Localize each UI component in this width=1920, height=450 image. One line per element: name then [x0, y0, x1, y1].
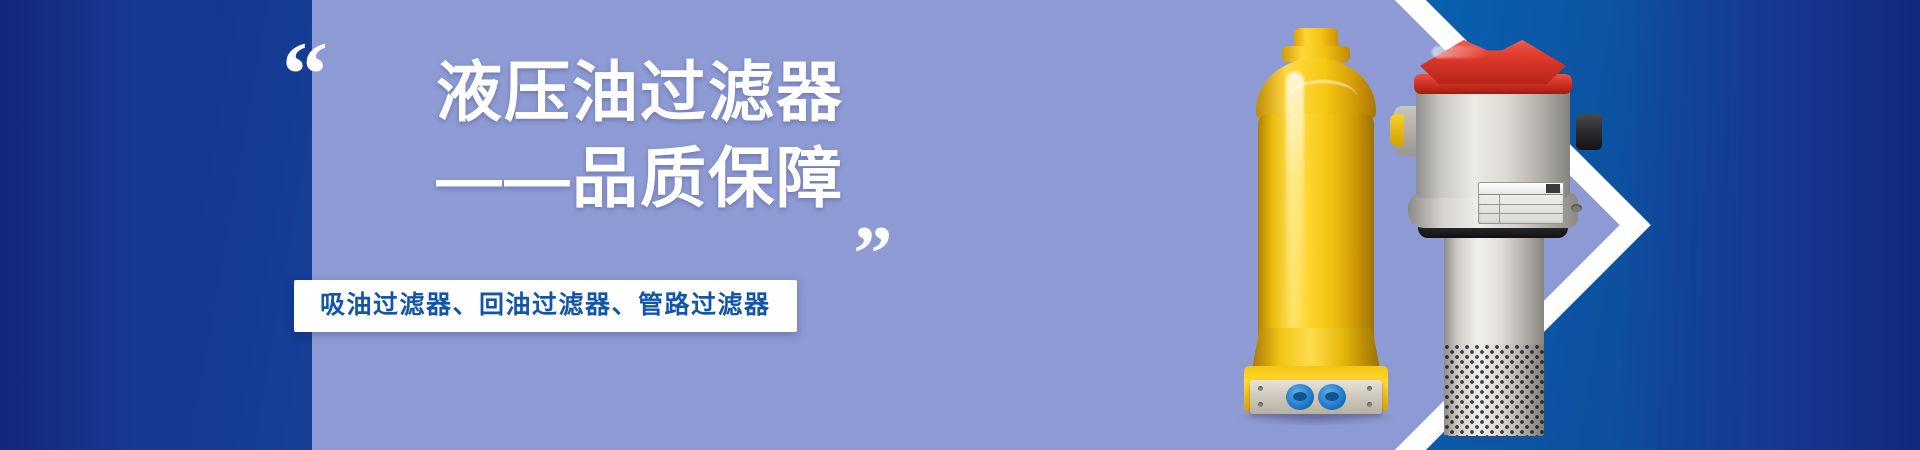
banner-copy-block: “ 液压油过滤器 ——品质保障 „ 吸油过滤器、回油过滤器、管路过滤器	[268, 22, 888, 352]
grey-filter-perforated-mesh	[1444, 344, 1544, 436]
yellow-filter-base-flare	[1252, 328, 1380, 370]
nameplate-row-divider	[1479, 204, 1563, 205]
banner-right-vignette	[1620, 0, 1920, 450]
product-banner: “ 液压油过滤器 ——品质保障 „ 吸油过滤器、回油过滤器、管路过滤器	[0, 0, 1920, 450]
banner-subtitle-text: 吸油过滤器、回油过滤器、管路过滤器	[320, 293, 771, 318]
nameplate-dark-field	[1546, 184, 1560, 193]
nameplate-row-divider	[1479, 213, 1563, 214]
yellow-filter-bolt	[1258, 402, 1263, 407]
grey-filter-side-knob	[1576, 114, 1602, 150]
banner-headline: 液压油过滤器 ——品质保障	[268, 50, 888, 222]
yellow-filter-bolt	[1367, 402, 1372, 407]
banner-left-vignette	[0, 0, 230, 450]
grey-filter-cap-highlight	[1432, 46, 1488, 58]
yellow-filter-body	[1258, 114, 1374, 346]
closing-quote-mark: „	[854, 174, 890, 252]
grey-filter-nameplate	[1478, 182, 1564, 224]
headline-line-1: 液压油过滤器	[268, 50, 844, 136]
yellow-filter-mounting-plate	[1250, 380, 1382, 414]
grey-tank-top-filter-image	[1388, 26, 1598, 436]
yellow-filter-bolt	[1258, 386, 1263, 391]
yellow-filter-highlight	[1286, 72, 1304, 340]
yellow-return-line-filter-image	[1242, 28, 1390, 428]
grey-filter-side-port-plug	[1390, 114, 1404, 146]
grey-filter-flange-hole	[1571, 204, 1582, 212]
headline-line-2: ——品质保障	[268, 136, 844, 222]
grey-filter-head-housing	[1416, 88, 1570, 198]
yellow-filter-port-2	[1318, 384, 1346, 410]
banner-subtitle-box: 吸油过滤器、回油过滤器、管路过滤器	[294, 280, 797, 332]
yellow-filter-bolt	[1367, 386, 1372, 391]
grey-filter-red-cap	[1420, 36, 1566, 84]
nameplate-column-divider	[1499, 194, 1500, 223]
product-photo-group	[1040, 0, 1600, 450]
yellow-filter-port-1	[1286, 384, 1314, 410]
